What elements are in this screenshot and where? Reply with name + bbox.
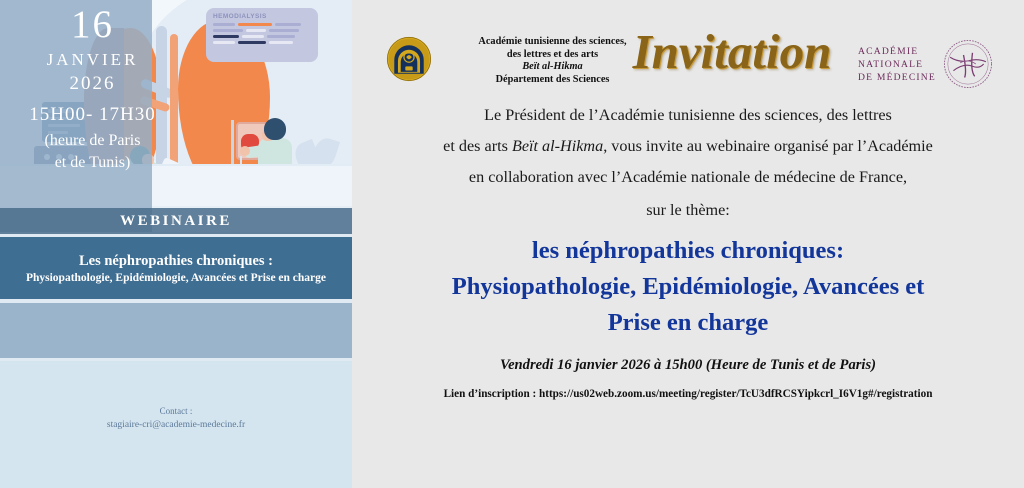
invitation-paragraph: Le Président de l’Académie tunisienne de… bbox=[386, 100, 990, 193]
poster-hours: 15H00- 17H30 bbox=[0, 100, 185, 130]
beit-al-hikma-italic: Beït al-Hikma bbox=[512, 137, 603, 155]
poster-day: 16 bbox=[0, 0, 185, 48]
poster-month: JANVIER bbox=[0, 48, 185, 72]
contact-label: Contact : bbox=[0, 361, 352, 418]
hemodialysis-illustration: HEMODIALYSIS bbox=[0, 0, 352, 232]
invitation-page: HEMODIALYSIS bbox=[0, 0, 1024, 488]
hemodialysis-panel-title: HEMODIALYSIS bbox=[213, 13, 311, 20]
poster-timezone-line1: (heure de Paris bbox=[0, 130, 185, 152]
paragraph-line-2-part-b: , vous invite au webinaire organisé par … bbox=[603, 137, 933, 155]
webinar-title: les néphropathies chroniques: Physiopath… bbox=[400, 233, 976, 341]
contact-email[interactable]: stagiaire-cri@academie-medecine.fr bbox=[0, 418, 352, 432]
doctor-hand bbox=[240, 146, 250, 156]
french-academy-name: ACADÉMIE NATIONALE DE MÉDECINE bbox=[858, 45, 936, 84]
poster-theme-line1: Les néphropathies chroniques : bbox=[79, 251, 273, 271]
tunisian-academy-seal-icon bbox=[386, 36, 432, 82]
poster-theme-band: Les néphropathies chroniques : Physiopat… bbox=[0, 237, 352, 299]
webinar-title-line1: les néphropathies chroniques: bbox=[400, 233, 976, 269]
paragraph-line-1: Le Président de l’Académie tunisienne de… bbox=[386, 100, 990, 131]
poster-timezone-line2: et de Tunis) bbox=[0, 152, 185, 174]
poster-panel: HEMODIALYSIS bbox=[0, 0, 352, 488]
invitation-content-panel: Académie tunisienne des sciences, des le… bbox=[352, 0, 1024, 488]
webinar-date-line: Vendredi 16 janvier 2026 à 15h00 (Heure … bbox=[386, 357, 990, 374]
french-academy-line3: DE MÉDECINE bbox=[858, 71, 936, 84]
poster-divider-band bbox=[0, 303, 352, 358]
hemodialysis-info-panel: HEMODIALYSIS bbox=[206, 8, 318, 62]
doctor-head-icon bbox=[264, 118, 286, 140]
french-academy-logo: ACADÉMIE NATIONALE DE MÉDECINE bbox=[858, 36, 996, 92]
registration-label: Lien d’inscription : bbox=[444, 388, 539, 400]
invitation-header: Académie tunisienne des sciences, des le… bbox=[352, 0, 1024, 100]
invitation-title: Invitation bbox=[607, 24, 857, 80]
french-academy-line2: NATIONALE bbox=[858, 58, 936, 71]
french-academy-seal-icon bbox=[940, 36, 996, 92]
paragraph-line-2: et des arts Beït al-Hikma, vous invite a… bbox=[386, 131, 990, 162]
paragraph-line-2-part-a: et des arts bbox=[443, 137, 512, 155]
registration-url[interactable]: https://us02web.zoom.us/meeting/register… bbox=[539, 388, 932, 400]
poster-year: 2026 bbox=[0, 72, 185, 96]
webinaire-banner: WEBINAIRE bbox=[0, 208, 352, 234]
poster-theme-line2: Physiopathologie, Epidémiologie, Avancée… bbox=[18, 271, 334, 286]
theme-intro-line: sur le thème: bbox=[386, 195, 990, 225]
webinar-title-line3: Prise en charge bbox=[400, 305, 976, 341]
webinar-title-line2: Physiopathologie, Epidémiologie, Avancée… bbox=[400, 269, 976, 305]
poster-contact-block: Contact : stagiaire-cri@academie-medecin… bbox=[0, 361, 352, 488]
registration-line: Lien d’inscription : https://us02web.zoo… bbox=[376, 388, 1000, 400]
poster-date-block: 16 JANVIER 2026 15H00- 17H30 (heure de P… bbox=[0, 0, 185, 174]
paragraph-line-3: en collaboration avec l’Académie nationa… bbox=[386, 162, 990, 193]
french-academy-line1: ACADÉMIE bbox=[858, 45, 936, 58]
